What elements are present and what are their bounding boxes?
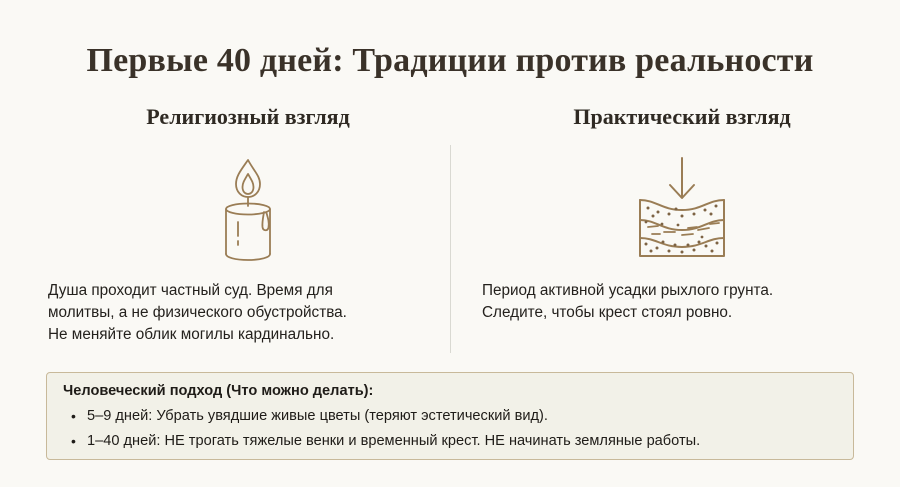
list-item-text: 5–9 дней: Убрать увядшие живые цветы (те… <box>87 408 548 424</box>
comparison-columns: Религиозный взгляд <box>0 104 900 354</box>
column-practical: Практический взгляд <box>482 104 882 324</box>
column-body-religious: Душа проходит частный суд. Время для мол… <box>48 280 448 346</box>
soil-settling-icon <box>482 150 882 266</box>
body-line: Период активной усадки рыхлого грунта. <box>482 280 882 302</box>
body-line: Душа проходит частный суд. Время для <box>48 280 448 302</box>
body-line: молитвы, а не физического обустройства. <box>48 302 448 324</box>
column-religious: Религиозный взгляд <box>48 104 448 346</box>
list-item-text: 1–40 дней: НЕ трогать тяжелые венки и вр… <box>87 433 700 449</box>
callout-box: Человеческий подход (Что можно делать): … <box>46 372 854 460</box>
candle-icon <box>48 150 448 266</box>
column-divider <box>450 145 451 353</box>
bullet-glyph: • <box>71 429 76 454</box>
column-heading-religious: Религиозный взгляд <box>48 104 448 130</box>
page-title: Первые 40 дней: Традиции против реальнос… <box>0 42 900 80</box>
column-body-practical: Период активной усадки рыхлого грунта. С… <box>482 280 882 324</box>
column-heading-practical: Практический взгляд <box>482 104 882 130</box>
infographic-page: Первые 40 дней: Традиции против реальнос… <box>0 0 900 487</box>
callout-heading: Человеческий подход (Что можно делать): <box>63 383 837 399</box>
body-line: Следите, чтобы крест стоял ровно. <box>482 302 882 324</box>
bullet-glyph: • <box>71 404 76 429</box>
callout-list: • 5–9 дней: Убрать увядшие живые цветы (… <box>63 404 837 454</box>
list-item: • 5–9 дней: Убрать увядшие живые цветы (… <box>63 404 837 429</box>
body-line: Не меняйте облик могилы кардинально. <box>48 324 448 346</box>
list-item: • 1–40 дней: НЕ трогать тяжелые венки и … <box>63 429 837 454</box>
